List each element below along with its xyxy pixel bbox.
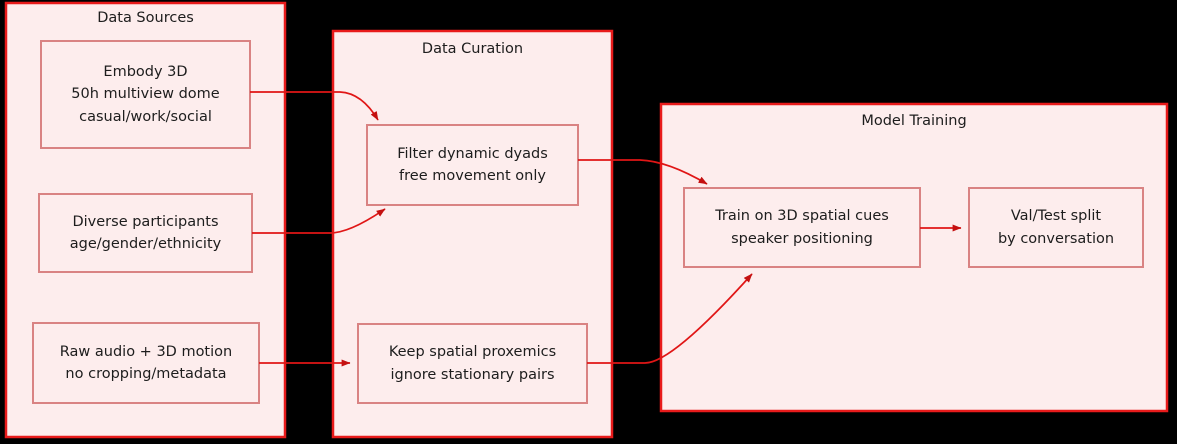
cluster-title-data-sources: Data Sources bbox=[6, 9, 285, 27]
node-keep-spatial-proxemics[interactable] bbox=[358, 324, 587, 403]
flowchart-graphics bbox=[0, 0, 1177, 444]
node-diverse-participants[interactable] bbox=[39, 194, 252, 272]
node-train-spatial-cues[interactable] bbox=[684, 188, 920, 267]
node-embody-3d[interactable] bbox=[41, 41, 250, 148]
node-raw-audio-motion[interactable] bbox=[33, 323, 259, 403]
node-val-test-split[interactable] bbox=[969, 188, 1143, 267]
flowchart-canvas: Data Sources Data Curation Model Trainin… bbox=[0, 0, 1177, 444]
cluster-title-model-training: Model Training bbox=[661, 112, 1167, 130]
cluster-title-data-curation: Data Curation bbox=[333, 40, 612, 58]
node-filter-dynamic-dyads[interactable] bbox=[367, 125, 578, 205]
